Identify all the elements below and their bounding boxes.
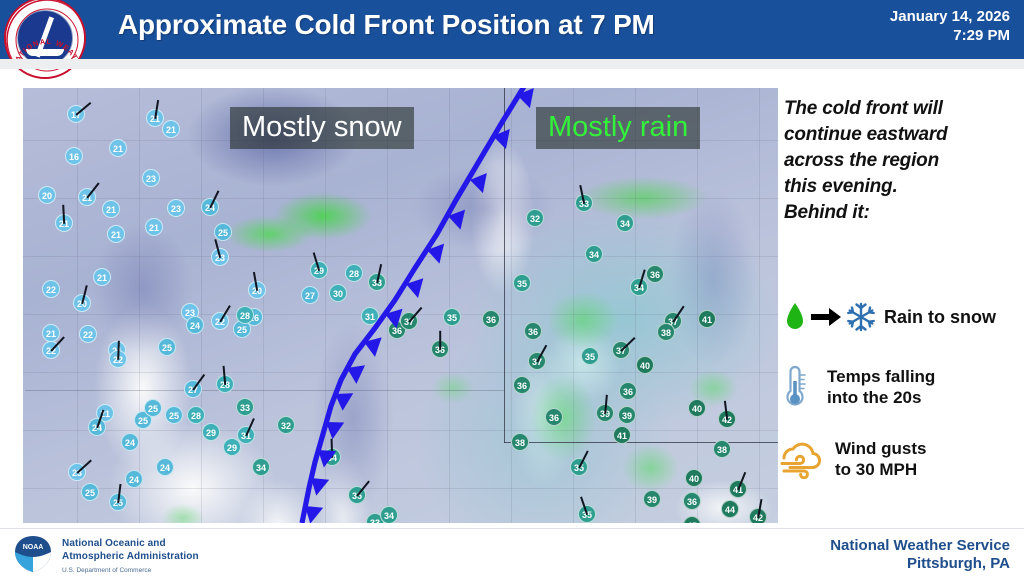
note-line-1: The cold front will [784, 96, 1020, 122]
note-line-4: this evening. [784, 174, 1020, 200]
office-name: National Weather Service [830, 537, 1010, 555]
bullet-wind-line1: Wind gusts [835, 438, 926, 459]
timestamp-block: January 14, 2026 7:29 PM [890, 7, 1010, 45]
bullet-temps-line1: Temps falling [827, 366, 935, 387]
noaa-line3: U.S. Department of Commerce [62, 565, 199, 576]
wind-cloud-icon [778, 439, 822, 479]
bullet-temps-line2: into the 20s [827, 387, 935, 408]
header-bar: NATIONAL WEATHER SERVICE Approximate Col… [0, 0, 1024, 59]
header-divider [0, 59, 1024, 69]
note-line-3: across the region [784, 148, 1020, 174]
office-location: Pittsburgh, PA [830, 555, 1010, 573]
map-label-mostly-snow: Mostly snow [230, 107, 414, 149]
cold-front-line [23, 88, 778, 523]
bullet-temps-falling: Temps falling into the 20s [780, 363, 935, 411]
note-line-5: Behind it: [784, 200, 1020, 226]
raindrop-icon [784, 301, 806, 333]
noaa-wordmark: National Oceanic and Atmospheric Adminis… [62, 537, 199, 576]
map-label-mostly-rain: Mostly rain [536, 107, 700, 149]
bullet-wind-line2: to 30 MPH [835, 459, 926, 480]
thermometer-icon [780, 363, 810, 411]
bullet-rain-to-snow-label: Rain to snow [884, 307, 996, 328]
arrow-right-icon [809, 305, 843, 329]
noaa-logo-icon: NOAA [11, 535, 55, 573]
snowflake-icon [846, 302, 876, 332]
bullet-wind-gusts: Wind gusts to 30 MPH [778, 438, 926, 480]
issue-date: January 14, 2026 [890, 7, 1010, 26]
svg-text:NOAA: NOAA [23, 544, 44, 551]
forecast-note-panel: The cold front will continue eastward ac… [784, 96, 1020, 226]
note-line-2: continue eastward [784, 122, 1020, 148]
page-title: Approximate Cold Front Position at 7 PM [118, 9, 655, 41]
footer-bar: NOAA National Oceanic and Atmospheric Ad… [0, 528, 1024, 576]
bullet-rain-to-snow: Rain to snow [784, 301, 996, 333]
office-identifier: National Weather Service Pittsburgh, PA [830, 537, 1010, 573]
weather-graphic: NATIONAL WEATHER SERVICE Approximate Col… [0, 0, 1024, 576]
noaa-line1: National Oceanic and [62, 537, 199, 550]
forecast-note-text: The cold front will continue eastward ac… [784, 96, 1020, 226]
noaa-line2: Atmospheric Administration [62, 550, 199, 563]
radar-map[interactable]: 1716212121202123212121232421252322212023… [23, 88, 778, 523]
issue-time: 7:29 PM [890, 26, 1010, 45]
